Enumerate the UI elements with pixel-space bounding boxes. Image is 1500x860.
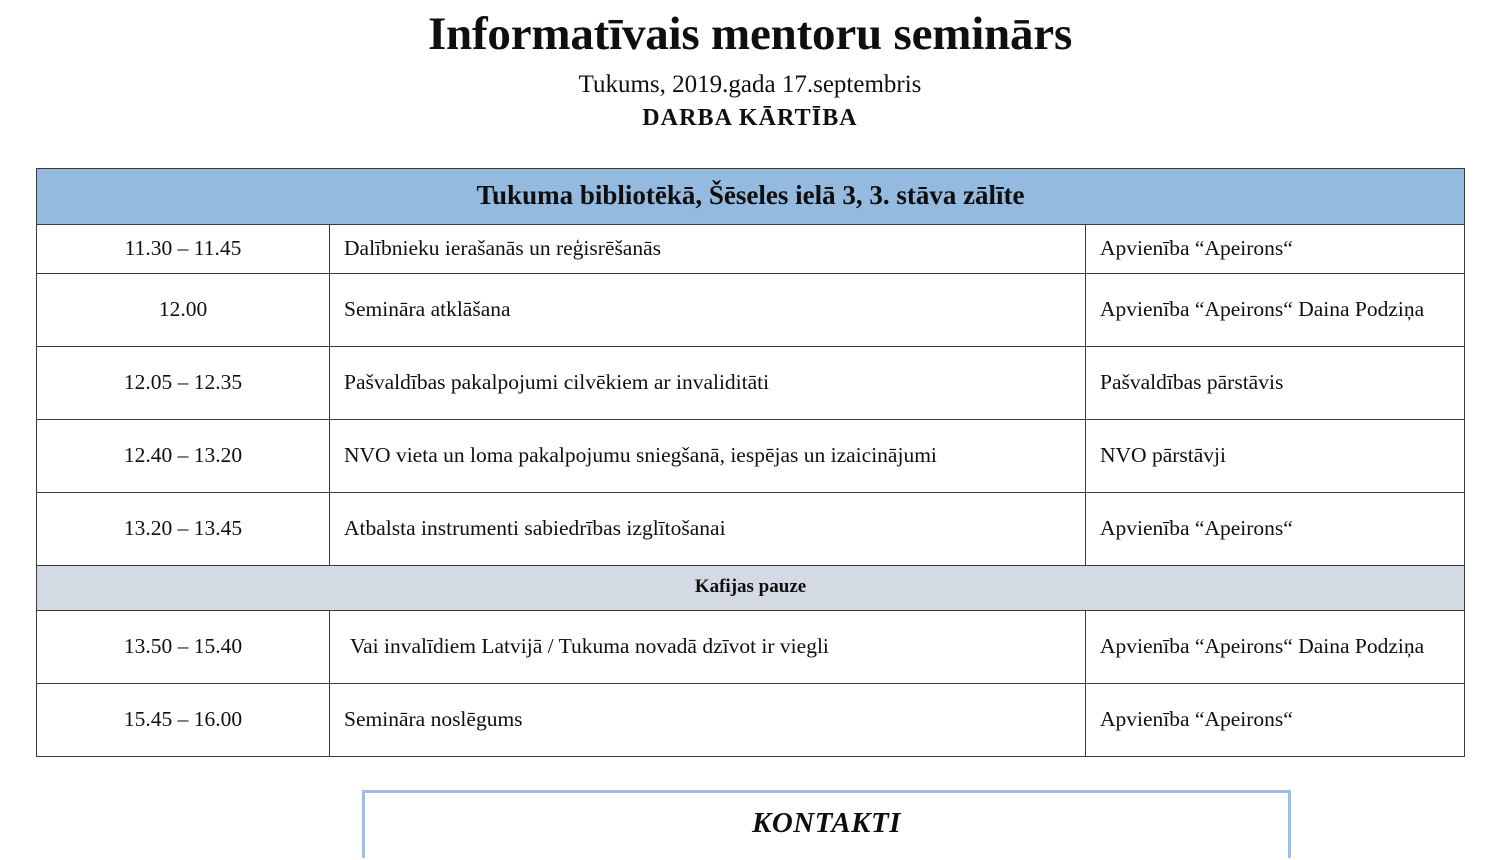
table-row: 13.50 – 15.40 Vai invalīdiem Latvijā / T… (37, 610, 1465, 683)
table-row: 12.00 Semināra atklāšana Apvienība “Apei… (37, 274, 1465, 347)
row-topic: NVO vieta un loma pakalpojumu sniegšanā,… (330, 420, 1086, 493)
row-presenter: Apvienība “Apeirons“ Daina Podziņa (1086, 274, 1465, 347)
row-time: 13.20 – 13.45 (37, 493, 330, 566)
row-presenter: Apvienība “Apeirons“ (1086, 493, 1465, 566)
table-row: 12.40 – 13.20 NVO vieta un loma pakalpoj… (37, 420, 1465, 493)
contacts-title: KONTAKTI (365, 807, 1288, 840)
document-header: Informatīvais mentoru seminārs Tukums, 2… (0, 0, 1500, 133)
row-topic: Atbalsta instrumenti sabiedrības izglīto… (330, 493, 1086, 566)
row-topic: Vai invalīdiem Latvijā / Tukuma novadā d… (330, 610, 1086, 683)
venue-header-cell: Tukuma bibliotēkā, Šēseles ielā 3, 3. st… (37, 169, 1465, 225)
table-row: 15.45 – 16.00 Semināra noslēgums Apvienī… (37, 683, 1465, 756)
table-row: 13.20 – 13.45 Atbalsta instrumenti sabie… (37, 493, 1465, 566)
agenda-table-container: Tukuma bibliotēkā, Šēseles ielā 3, 3. st… (36, 168, 1464, 757)
row-presenter: Apvienība “Apeirons“ (1086, 225, 1465, 274)
row-topic: Pašvaldības pakalpojumi cilvēkiem ar inv… (330, 347, 1086, 420)
table-row: 12.05 – 12.35 Pašvaldības pakalpojumi ci… (37, 347, 1465, 420)
row-time: 11.30 – 11.45 (37, 225, 330, 274)
table-row: 11.30 – 11.45 Dalībnieku ierašanās un re… (37, 225, 1465, 274)
row-time: 12.40 – 13.20 (37, 420, 330, 493)
row-topic: Semināra noslēgums (330, 683, 1086, 756)
contacts-box: KONTAKTI (362, 790, 1291, 858)
agenda-heading: DARBA KĀRTĪBA (0, 103, 1500, 133)
row-topic: Dalībnieku ierašanās un reģisrēšanās (330, 225, 1086, 274)
row-presenter: Pašvaldības pārstāvis (1086, 347, 1465, 420)
coffee-break-row: Kafijas pauze (37, 566, 1465, 611)
agenda-table: Tukuma bibliotēkā, Šēseles ielā 3, 3. st… (36, 168, 1465, 757)
row-presenter: NVO pārstāvji (1086, 420, 1465, 493)
row-time: 15.45 – 16.00 (37, 683, 330, 756)
row-time: 13.50 – 15.40 (37, 610, 330, 683)
row-topic: Semināra atklāšana (330, 274, 1086, 347)
venue-header-row: Tukuma bibliotēkā, Šēseles ielā 3, 3. st… (37, 169, 1465, 225)
coffee-break-label: Kafijas pauze (37, 566, 1465, 611)
row-presenter: Apvienība “Apeirons“ Daina Podziņa (1086, 610, 1465, 683)
event-location-date: Tukums, 2019.gada 17.septembris (0, 69, 1500, 100)
page-title: Informatīvais mentoru seminārs (0, 8, 1500, 61)
row-presenter: Apvienība “Apeirons“ (1086, 683, 1465, 756)
row-time: 12.00 (37, 274, 330, 347)
row-time: 12.05 – 12.35 (37, 347, 330, 420)
